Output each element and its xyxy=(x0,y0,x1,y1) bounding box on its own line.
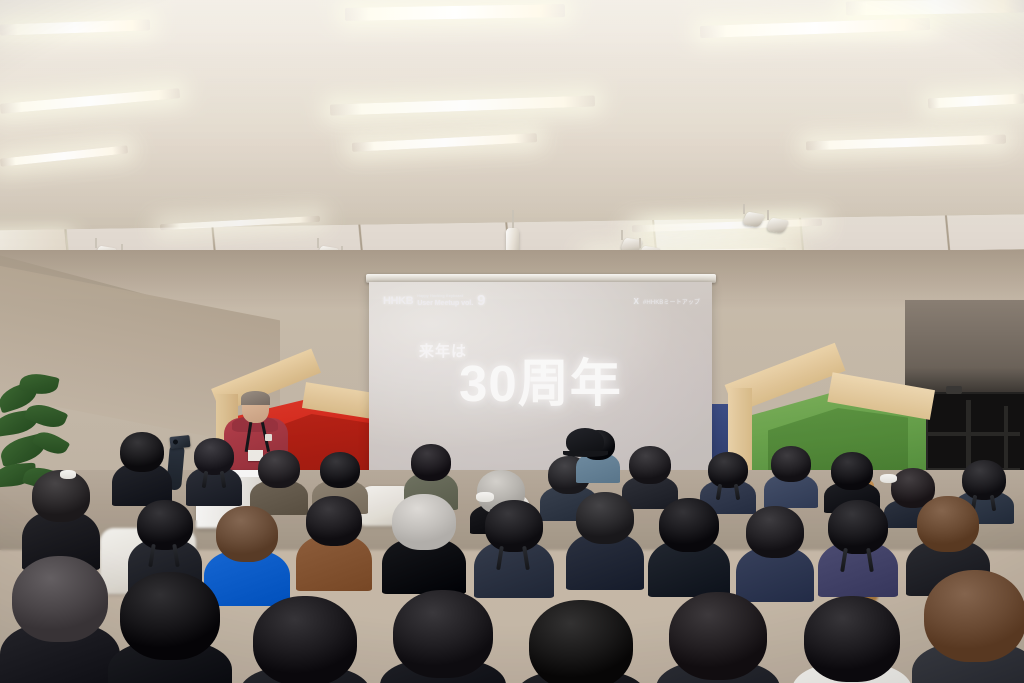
ceiling-tile xyxy=(947,213,1024,250)
audience-member-head xyxy=(120,432,164,472)
audience-member xyxy=(764,446,818,506)
face-mask xyxy=(476,492,494,502)
audience-member xyxy=(792,596,912,683)
audience-member xyxy=(648,498,730,594)
audience-member xyxy=(108,572,232,683)
audience-member xyxy=(186,438,242,504)
audience-member xyxy=(380,590,506,683)
audience-member-head xyxy=(828,500,888,554)
audience-member xyxy=(566,492,644,586)
audience-member-head xyxy=(194,438,234,475)
audience-member-head xyxy=(576,492,634,544)
meetup-volume-number: 9 xyxy=(477,295,485,307)
audience-member xyxy=(112,432,172,504)
audience-member-head xyxy=(320,452,360,488)
audience-member-head xyxy=(771,446,811,482)
slide-body: 来年は 30周年 xyxy=(369,340,712,411)
audience-member xyxy=(912,570,1024,683)
baseball-cap xyxy=(566,428,604,455)
audience-member-head xyxy=(392,494,456,550)
audience-member-head xyxy=(258,450,300,488)
audience-member-head xyxy=(137,500,193,550)
audience-member-head xyxy=(411,444,451,481)
hashtag-text: #HHKBミートアップ xyxy=(643,297,700,306)
presenter-hair xyxy=(241,391,270,405)
audience-member-head xyxy=(924,570,1024,662)
audience-member xyxy=(22,470,100,566)
audience-member-head xyxy=(917,496,979,552)
audience-member-head xyxy=(669,592,767,680)
audience-member xyxy=(818,500,898,594)
audience-member-head xyxy=(659,498,719,552)
slide-headline-text: 30周年 xyxy=(459,357,712,411)
hhkb-wordmark: HHKB xyxy=(383,296,413,307)
brand-tagline-line2: User Meetup vol. xyxy=(417,299,473,306)
audience-member-head xyxy=(708,452,748,488)
audience-member xyxy=(474,500,554,594)
audience-member xyxy=(516,600,646,683)
audience-member-head xyxy=(120,572,220,660)
ceiling-tile xyxy=(801,215,949,252)
face-mask xyxy=(880,474,897,483)
audience-member xyxy=(0,556,120,683)
slide-header: HHKB Happy Hacking Keyboard User Meetup … xyxy=(369,288,712,314)
audience-member-head xyxy=(529,600,633,683)
audience-member-head xyxy=(306,496,362,546)
audience-member-head xyxy=(804,596,900,682)
audience-member xyxy=(240,596,370,683)
audience-member-head xyxy=(746,506,804,558)
audience-member-head xyxy=(253,596,357,683)
conference-photo-scene: HHKB Happy Hacking Keyboard User Meetup … xyxy=(0,0,1024,683)
audience-member-head xyxy=(962,460,1006,500)
audience-member-head xyxy=(393,590,493,678)
audience-member xyxy=(296,496,372,588)
audience-member xyxy=(656,592,780,683)
x-twitter-icon: X xyxy=(634,298,639,306)
presenter-chest-logo xyxy=(265,434,272,441)
event-hashtag: X #HHKBミートアップ xyxy=(634,297,700,306)
audience-member xyxy=(382,494,466,590)
audience-member-head xyxy=(12,556,108,642)
face-mask xyxy=(60,470,76,479)
hhkb-brand-logo: HHKB Happy Hacking Keyboard User Meetup … xyxy=(383,295,485,307)
audience-member-head xyxy=(485,500,543,552)
audience-member-head xyxy=(216,506,278,562)
audience-member xyxy=(736,506,814,598)
hhkb-brand-tagline: Happy Hacking Keyboard User Meetup vol. xyxy=(417,295,473,306)
audience-member-head xyxy=(629,446,671,484)
audience-member-head xyxy=(831,452,873,490)
